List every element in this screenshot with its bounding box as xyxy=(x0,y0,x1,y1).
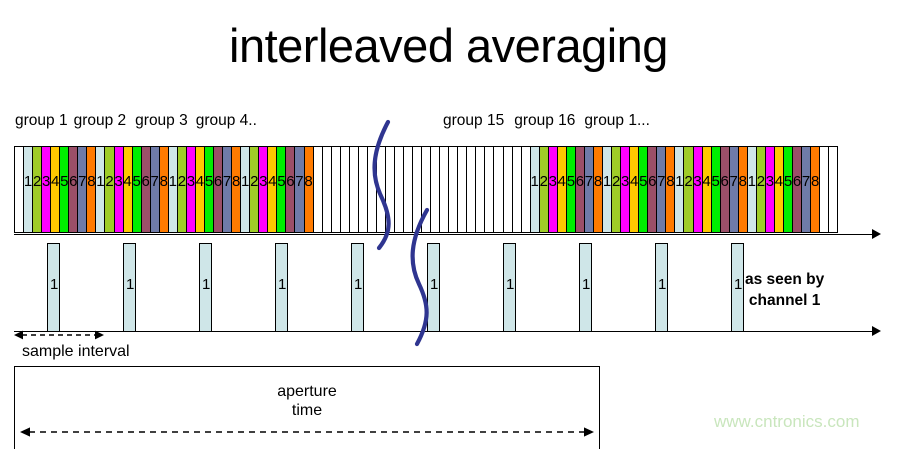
sample-bar-blank xyxy=(449,147,458,232)
sample-bar-blank xyxy=(386,147,395,232)
channel-1-pulse-number: 1 xyxy=(354,277,362,292)
sample-bar: 7 xyxy=(295,147,304,232)
sample-bar-number: 1 xyxy=(748,174,756,189)
aperture-time-label-line1: aperture xyxy=(14,382,600,401)
sample-bar-number: 2 xyxy=(684,174,692,189)
channel-1-pulse-number: 1 xyxy=(506,277,514,292)
sample-bar: 6 xyxy=(576,147,585,232)
sample-bar: 7 xyxy=(78,147,87,232)
sample-bar-number: 3 xyxy=(766,174,774,189)
sample-bar-number: 8 xyxy=(594,174,602,189)
sample-bar-number: 2 xyxy=(105,174,113,189)
aperture-time-label-line2: time xyxy=(14,401,600,420)
sample-bar: 2 xyxy=(540,147,549,232)
sample-bar: 1 xyxy=(24,147,33,232)
sample-bar: 6 xyxy=(793,147,802,232)
sample-bar-number: 7 xyxy=(802,174,810,189)
sample-bar: 8 xyxy=(811,147,820,232)
sample-bar-number: 7 xyxy=(151,174,159,189)
sample-bar-blank xyxy=(513,147,522,232)
sample-bar: 6 xyxy=(721,147,730,232)
sample-bar: 7 xyxy=(730,147,739,232)
sample-bar-number: 4 xyxy=(702,174,710,189)
sample-bar-number: 4 xyxy=(268,174,276,189)
sample-bar: 7 xyxy=(151,147,160,232)
sample-bar: 3 xyxy=(621,147,630,232)
sample-bar: 5 xyxy=(133,147,142,232)
sample-bar-blank xyxy=(359,147,368,232)
sample-bar-number: 4 xyxy=(630,174,638,189)
sample-bar-blank xyxy=(440,147,449,232)
sample-bar: 3 xyxy=(115,147,124,232)
sample-bar: 8 xyxy=(87,147,96,232)
sample-bar: 8 xyxy=(666,147,675,232)
sample-bar-number: 3 xyxy=(549,174,557,189)
sample-bar-number: 2 xyxy=(757,174,765,189)
sample-bar-number: 7 xyxy=(78,174,86,189)
time-axis-bottom-arrowhead xyxy=(872,326,881,336)
time-axis-top xyxy=(14,234,876,235)
sample-bar: 8 xyxy=(594,147,603,232)
sample-bar-number: 6 xyxy=(69,174,77,189)
sample-bar-blank xyxy=(350,147,359,232)
sample-bar-number: 4 xyxy=(558,174,566,189)
sample-bar-number: 8 xyxy=(811,174,819,189)
sample-bar-number: 2 xyxy=(33,174,41,189)
sample-bar: 4 xyxy=(775,147,784,232)
group-label: group 1 xyxy=(15,112,68,130)
sample-bar-blank xyxy=(494,147,503,232)
sample-bar-number: 3 xyxy=(621,174,629,189)
sample-bar-number: 1 xyxy=(169,174,177,189)
sample-bar: 6 xyxy=(142,147,151,232)
sample-bar-number: 2 xyxy=(540,174,548,189)
sample-bar: 4 xyxy=(703,147,712,232)
sample-bar: 3 xyxy=(42,147,51,232)
interleaved-sample-strip: 1234567812345678123456781234567812345678… xyxy=(14,146,838,233)
group-label: group 1... xyxy=(584,112,650,130)
channel-1-pulse: 1 xyxy=(427,243,440,332)
sample-bar: 5 xyxy=(277,147,286,232)
sample-bar: 6 xyxy=(648,147,657,232)
sample-interval-measure xyxy=(14,328,104,342)
sample-bar-number: 5 xyxy=(132,174,140,189)
sample-bar-blank xyxy=(413,147,422,232)
sample-bar-blank xyxy=(368,147,377,232)
channel-1-pulse: 1 xyxy=(655,243,668,332)
sample-bar-number: 5 xyxy=(784,174,792,189)
sample-bar-blank xyxy=(476,147,485,232)
sample-bar-blank xyxy=(431,147,440,232)
aperture-time-measure xyxy=(20,425,594,439)
sample-bar: 1 xyxy=(603,147,612,232)
channel-1-pulse: 1 xyxy=(275,243,288,332)
group-label: group 4.. xyxy=(196,112,257,130)
group-label: group 15 xyxy=(443,112,504,130)
sample-bar: 3 xyxy=(259,147,268,232)
channel-1-pulse: 1 xyxy=(199,243,212,332)
sample-bar-number: 3 xyxy=(114,174,122,189)
sample-bar-number: 4 xyxy=(775,174,783,189)
sample-bar-number: 1 xyxy=(241,174,249,189)
sample-bar: 1 xyxy=(96,147,105,232)
aperture-time-label: aperture time xyxy=(14,382,600,420)
sample-bar: 6 xyxy=(286,147,295,232)
sample-bar: 7 xyxy=(657,147,666,232)
sample-bar-blank xyxy=(458,147,467,232)
sample-bar: 4 xyxy=(124,147,133,232)
sample-bar-number: 5 xyxy=(639,174,647,189)
sample-bar: 1 xyxy=(169,147,178,232)
channel-1-pulse-number: 1 xyxy=(50,277,58,292)
sample-bar: 4 xyxy=(196,147,205,232)
sample-bar-number: 7 xyxy=(730,174,738,189)
sample-bar: 2 xyxy=(612,147,621,232)
sample-bar-number: 5 xyxy=(277,174,285,189)
sample-bar-number: 3 xyxy=(693,174,701,189)
sample-bar: 1 xyxy=(748,147,757,232)
sample-bar-blank xyxy=(467,147,476,232)
sample-bar-number: 5 xyxy=(205,174,213,189)
channel-1-pulse: 1 xyxy=(351,243,364,332)
sample-bar: 4 xyxy=(630,147,639,232)
sample-bar-number: 8 xyxy=(304,174,312,189)
channel-1-pulse-number: 1 xyxy=(430,277,438,292)
sample-bar-number: 2 xyxy=(250,174,258,189)
group-labels-left: group 1group 2group 3group 4.. xyxy=(15,112,257,130)
sample-bar-number: 3 xyxy=(187,174,195,189)
sample-bar: 4 xyxy=(51,147,60,232)
channel-1-pulse: 1 xyxy=(47,243,60,332)
sample-bar-number: 1 xyxy=(675,174,683,189)
sample-bar-number: 7 xyxy=(657,174,665,189)
channel-1-pulse: 1 xyxy=(579,243,592,332)
sample-bar-blank xyxy=(485,147,494,232)
sample-bar-number: 8 xyxy=(160,174,168,189)
sample-bar: 6 xyxy=(214,147,223,232)
sample-bar-blank xyxy=(314,147,323,232)
sample-bar-number: 8 xyxy=(232,174,240,189)
sample-bar: 5 xyxy=(784,147,793,232)
sample-bar: 3 xyxy=(694,147,703,232)
channel-1-pulse-number: 1 xyxy=(734,277,742,292)
sample-bar-blank xyxy=(395,147,404,232)
sample-bar: 8 xyxy=(305,147,314,232)
sample-bar: 8 xyxy=(232,147,241,232)
channel-1-pulse-number: 1 xyxy=(202,277,210,292)
sample-bar-number: 2 xyxy=(612,174,620,189)
sample-bar-number: 1 xyxy=(603,174,611,189)
sample-interval-label: sample interval xyxy=(22,343,130,361)
watermark: www.cntronics.com xyxy=(714,412,859,432)
sample-bar: 2 xyxy=(105,147,114,232)
group-label: group 3 xyxy=(135,112,188,130)
sample-bar-blank xyxy=(422,147,431,232)
sample-bar: 3 xyxy=(766,147,775,232)
sample-bar-number: 7 xyxy=(223,174,231,189)
sample-bar: 3 xyxy=(187,147,196,232)
channel-1-pulse-number: 1 xyxy=(126,277,134,292)
sample-bar: 3 xyxy=(549,147,558,232)
channel-1-pulse: 1 xyxy=(503,243,516,332)
sample-bar: 5 xyxy=(60,147,69,232)
sample-bar: 2 xyxy=(178,147,187,232)
sample-bar-number: 1 xyxy=(531,174,539,189)
sample-bar: 7 xyxy=(802,147,811,232)
sample-bar-blank xyxy=(504,147,513,232)
sample-bar-number: 7 xyxy=(585,174,593,189)
time-axis-top-arrowhead xyxy=(872,229,881,239)
sample-bar-number: 4 xyxy=(196,174,204,189)
time-axis-bottom xyxy=(14,331,876,332)
sample-bar-blank xyxy=(15,147,24,232)
sample-bar-number: 4 xyxy=(51,174,59,189)
sample-bar: 7 xyxy=(223,147,232,232)
sample-bar-number: 8 xyxy=(87,174,95,189)
group-label: group 2 xyxy=(74,112,127,130)
page-title: interleaved averaging xyxy=(0,22,897,69)
sample-bar: 5 xyxy=(639,147,648,232)
sample-bar-number: 4 xyxy=(123,174,131,189)
sample-bar-number: 1 xyxy=(96,174,104,189)
as-seen-by-line2: channel 1 xyxy=(745,290,824,311)
channel-1-pulse: 1 xyxy=(123,243,136,332)
sample-bar: 5 xyxy=(712,147,721,232)
sample-bar-number: 5 xyxy=(567,174,575,189)
sample-bar-number: 6 xyxy=(286,174,294,189)
sample-bar-number: 1 xyxy=(24,174,32,189)
sample-bar: 1 xyxy=(241,147,250,232)
sample-bar-number: 7 xyxy=(295,174,303,189)
channel-1-pulse-number: 1 xyxy=(658,277,666,292)
sample-bar-number: 6 xyxy=(721,174,729,189)
sample-bar-blank xyxy=(404,147,413,232)
sample-bar-blank xyxy=(341,147,350,232)
sample-bar: 4 xyxy=(558,147,567,232)
sample-bar-number: 6 xyxy=(142,174,150,189)
sample-bar-number: 3 xyxy=(259,174,267,189)
as-seen-by-line1: as seen by xyxy=(745,269,824,290)
as-seen-by-channel-label: as seen by channel 1 xyxy=(745,269,824,311)
channel-1-pulse-number: 1 xyxy=(278,277,286,292)
sample-bar: 4 xyxy=(268,147,277,232)
sample-bar: 8 xyxy=(739,147,748,232)
sample-bar-blank xyxy=(522,147,531,232)
sample-bar-blank xyxy=(377,147,386,232)
sample-bar-number: 6 xyxy=(214,174,222,189)
sample-bar-blank xyxy=(332,147,341,232)
sample-bar-number: 2 xyxy=(178,174,186,189)
sample-bar-number: 5 xyxy=(711,174,719,189)
channel-1-pulse: 1 xyxy=(731,243,744,332)
sample-bar: 5 xyxy=(567,147,576,232)
sample-bar-blank xyxy=(820,147,829,232)
sample-bar: 8 xyxy=(160,147,169,232)
group-label: group 16 xyxy=(514,112,575,130)
sample-bar: 7 xyxy=(585,147,594,232)
sample-bar-number: 6 xyxy=(648,174,656,189)
sample-bar: 2 xyxy=(684,147,693,232)
sample-bar-number: 8 xyxy=(739,174,747,189)
sample-bar: 1 xyxy=(675,147,684,232)
sample-bar: 1 xyxy=(531,147,540,232)
sample-bar: 2 xyxy=(33,147,42,232)
channel-1-pulse-number: 1 xyxy=(582,277,590,292)
sample-bar-number: 5 xyxy=(60,174,68,189)
sample-bar: 6 xyxy=(69,147,78,232)
sample-bar-number: 6 xyxy=(576,174,584,189)
sample-bar-blank xyxy=(829,147,838,232)
sample-bar: 2 xyxy=(757,147,766,232)
sample-bar-number: 3 xyxy=(42,174,50,189)
sample-bar-number: 6 xyxy=(793,174,801,189)
sample-bar: 5 xyxy=(205,147,214,232)
sample-bar: 2 xyxy=(250,147,259,232)
sample-bar-blank xyxy=(323,147,332,232)
group-labels-right: group 15group 16group 1... xyxy=(443,112,650,130)
sample-bar-number: 8 xyxy=(666,174,674,189)
